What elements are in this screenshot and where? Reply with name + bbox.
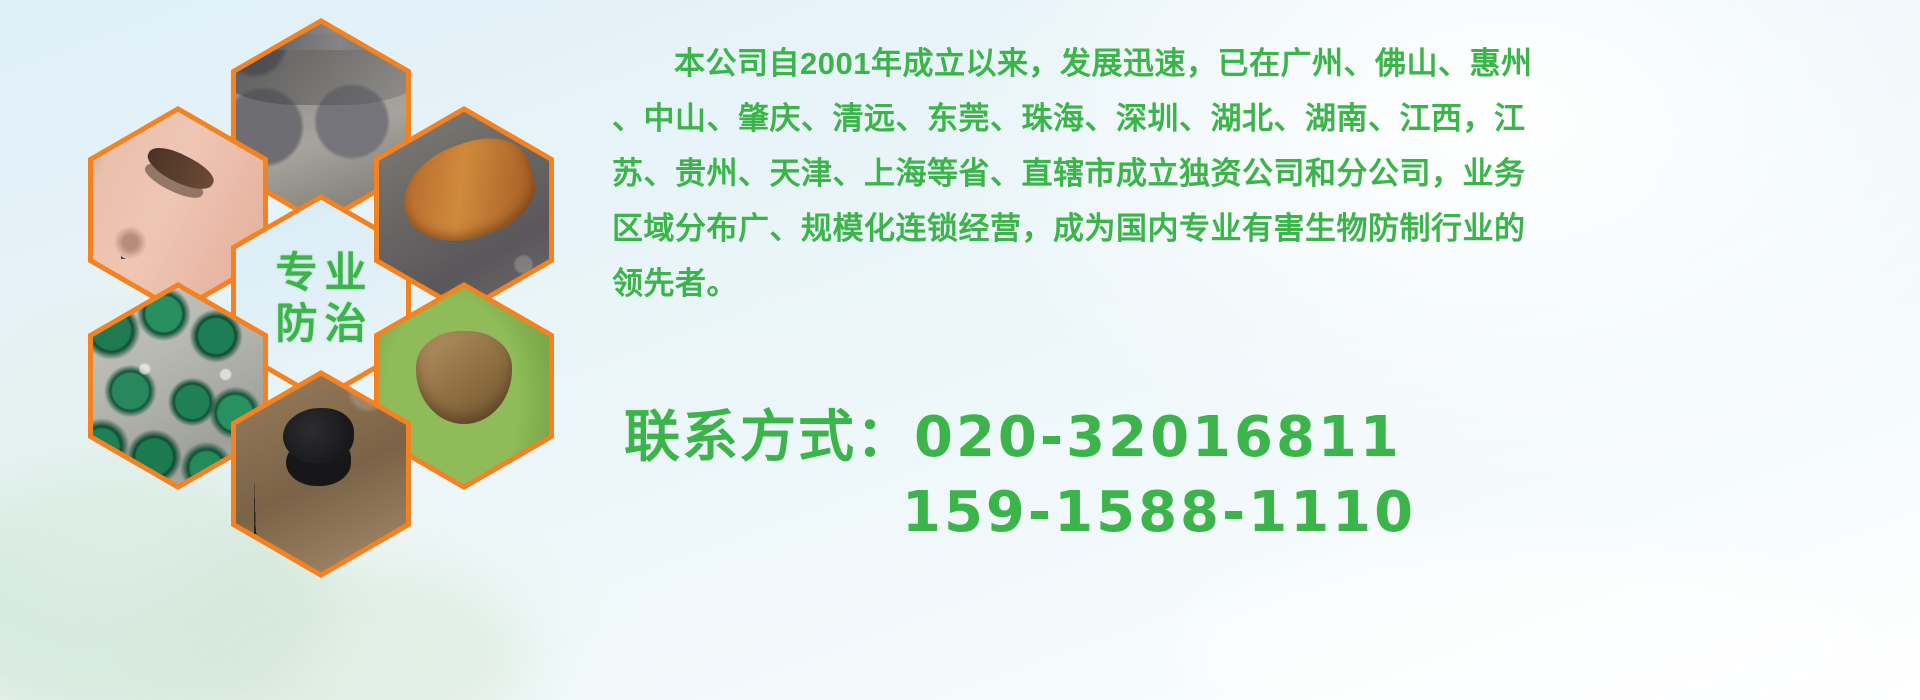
decorative-blob (1180, 540, 1880, 700)
description-line: 、中山、肇庆、清远、东莞、珠海、深圳、湖北、湖南、江西，江 (612, 91, 1912, 146)
promo-banner: 专业 防治 本公司自2001年成立以来，发展迅速，已在广州 (0, 0, 1920, 700)
description-line: 本公司自2001年成立以来，发展迅速，已在广州、佛山、惠州 (612, 36, 1912, 91)
description-line: 领先者。 (612, 256, 1912, 311)
hex-photo-cockroach-frame (379, 112, 549, 309)
hex-collage: 专业 防治 (88, 18, 608, 588)
contact-label: 联系方式： (624, 405, 914, 468)
description-line: 苏、贵州、天津、上海等省、直辖市成立独资公司和分公司，业务 (612, 146, 1912, 201)
center-label-line1: 专业 (268, 247, 373, 298)
center-label-line2: 防治 (268, 298, 373, 349)
contact-block: 联系方式：020-32016811 159-1588-1110 (612, 400, 1912, 550)
ant-photo (236, 376, 406, 573)
phone-secondary[interactable]: 159-1588-1110 (902, 480, 1416, 545)
company-description: 本公司自2001年成立以来，发展迅速，已在广州、佛山、惠州 、中山、肇庆、清远、… (612, 36, 1912, 311)
cockroach-photo (379, 112, 549, 309)
description-line: 区域分布广、规模化连锁经营，成为国内专业有害生物防制行业的 (612, 201, 1912, 256)
hex-photo-ant-frame (236, 376, 406, 573)
contact-secondary-line: 159-1588-1110 (612, 475, 1912, 550)
phone-primary[interactable]: 020-32016811 (914, 405, 1402, 470)
contact-primary-line: 联系方式：020-32016811 (612, 400, 1912, 475)
